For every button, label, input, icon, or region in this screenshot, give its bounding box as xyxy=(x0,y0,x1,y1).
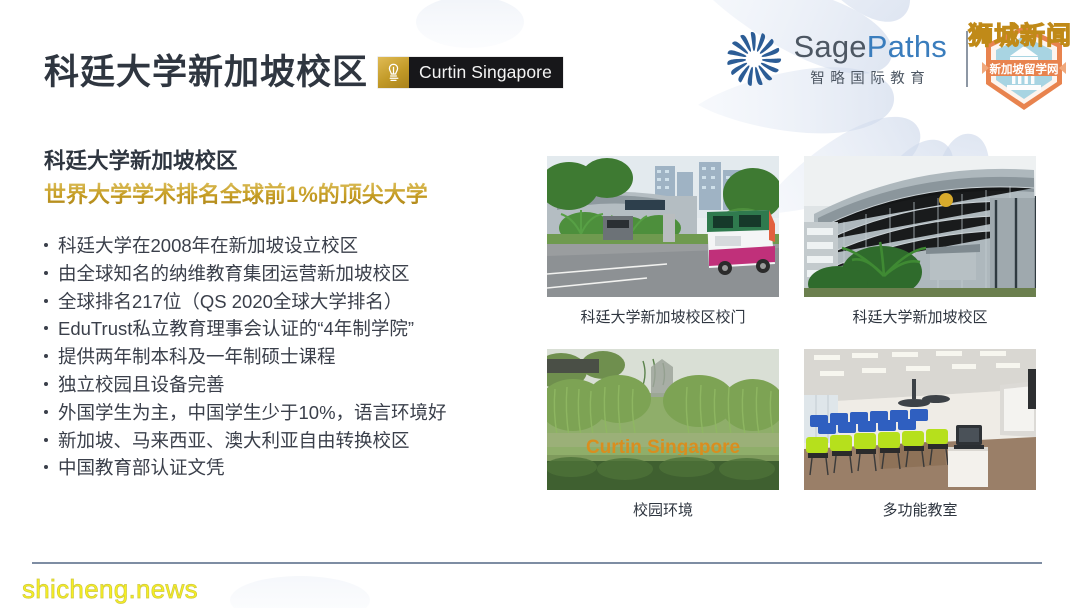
gallery-cell: 科廷大学新加坡校区校门 xyxy=(547,156,779,327)
svg-text:新加坡留学网: 新加坡留学网 xyxy=(990,62,1059,76)
campus-gate-photo xyxy=(547,156,779,297)
list-item: 新加坡、马来西亚、澳大利亚自由转换校区 xyxy=(44,427,514,455)
list-item-label: 新加坡、马来西亚、澳大利亚自由转换校区 xyxy=(58,427,410,455)
list-item: EduTrust私立教育理事会认证的“4年制学院” xyxy=(44,315,514,343)
brand-name-part2: Paths xyxy=(867,29,947,64)
list-item-label: 外国学生为主，中国学生少于10%，语言环境好 xyxy=(58,399,447,427)
curtin-crest-icon xyxy=(378,57,409,88)
list-item: 提供两年制本科及一年制硕士课程 xyxy=(44,343,514,371)
feature-bullet-list: 科廷大学在2008年在新加坡设立校区 由全球知名的纳维教育集团运营新加坡校区 全… xyxy=(44,232,514,482)
gallery-cell: 多功能教室 xyxy=(804,349,1036,520)
multipurpose-classroom-photo xyxy=(804,349,1036,490)
photo-caption: 科廷大学新加坡校区校门 xyxy=(580,306,745,327)
bullet-dot-icon xyxy=(44,438,48,442)
photo-caption: 多功能教室 xyxy=(882,499,957,520)
list-item: 外国学生为主，中国学生少于10%，语言环境好 xyxy=(44,399,514,427)
page-title: 科廷大学新加坡校区 xyxy=(44,44,368,95)
list-item-label: 全球排名217位（QS 2020全球大学排名） xyxy=(58,288,402,316)
sagepaths-radial-burst-icon xyxy=(723,28,785,90)
campus-sign-text: Curtin Singapore xyxy=(586,437,740,458)
gallery-cell: 科廷大学新加坡校区 xyxy=(804,156,1036,327)
bullet-dot-icon xyxy=(44,271,48,275)
list-item: 中国教育部认证文凭 xyxy=(44,454,514,482)
news-watermark-overlay: 狮城新闻 xyxy=(968,16,1072,52)
photo-gallery: 科廷大学新加坡校区校门 xyxy=(547,156,1036,520)
list-item: 全球排名217位（QS 2020全球大学排名） xyxy=(44,288,514,316)
curtin-singapore-logo: Curtin Singapore xyxy=(378,57,563,88)
curtin-wordmark: Curtin Singapore xyxy=(409,57,563,88)
list-item-label: 中国教育部认证文凭 xyxy=(58,454,225,482)
brand-name-part1: Sage xyxy=(794,29,867,64)
photo-caption: 校园环境 xyxy=(633,499,693,520)
brand-name-cn: 智略国际教育 xyxy=(794,67,947,88)
bullet-dot-icon xyxy=(44,465,48,469)
list-item: 独立校园且设备完善 xyxy=(44,371,514,399)
list-item-label: EduTrust私立教育理事会认证的“4年制学院” xyxy=(58,315,414,343)
campus-environment-photo: Curtin Singapore xyxy=(547,349,779,490)
list-item-label: 提供两年制本科及一年制硕士课程 xyxy=(58,343,336,371)
campus-building-photo xyxy=(804,156,1036,297)
photo-caption: 科廷大学新加坡校区 xyxy=(852,306,987,327)
gold-highlight-heading: 世界大学学术排名全球前1%的顶尖大学 xyxy=(44,177,428,209)
list-item-label: 独立校园且设备完善 xyxy=(58,371,225,399)
bullet-dot-icon xyxy=(44,243,48,247)
list-item: 科廷大学在2008年在新加坡设立校区 xyxy=(44,232,514,260)
footer-divider xyxy=(32,562,1042,564)
list-item-label: 由全球知名的纳维教育集团运营新加坡校区 xyxy=(58,260,410,288)
gallery-cell: Curtin Singapore 校园环境 xyxy=(547,349,779,520)
section-subheading: 科廷大学新加坡校区 xyxy=(44,144,238,175)
list-item-label: 科廷大学在2008年在新加坡设立校区 xyxy=(58,232,358,260)
bullet-dot-icon xyxy=(44,382,48,386)
bullet-dot-icon xyxy=(44,326,48,330)
brand-name-en: SagePaths xyxy=(794,31,947,62)
site-watermark: shicheng.news xyxy=(22,574,198,605)
sagepaths-brand: SagePaths 智略国际教育 xyxy=(723,28,972,90)
list-item: 由全球知名的纳维教育集团运营新加坡校区 xyxy=(44,260,514,288)
bullet-dot-icon xyxy=(44,354,48,358)
bullet-dot-icon xyxy=(44,299,48,303)
bullet-dot-icon xyxy=(44,410,48,414)
